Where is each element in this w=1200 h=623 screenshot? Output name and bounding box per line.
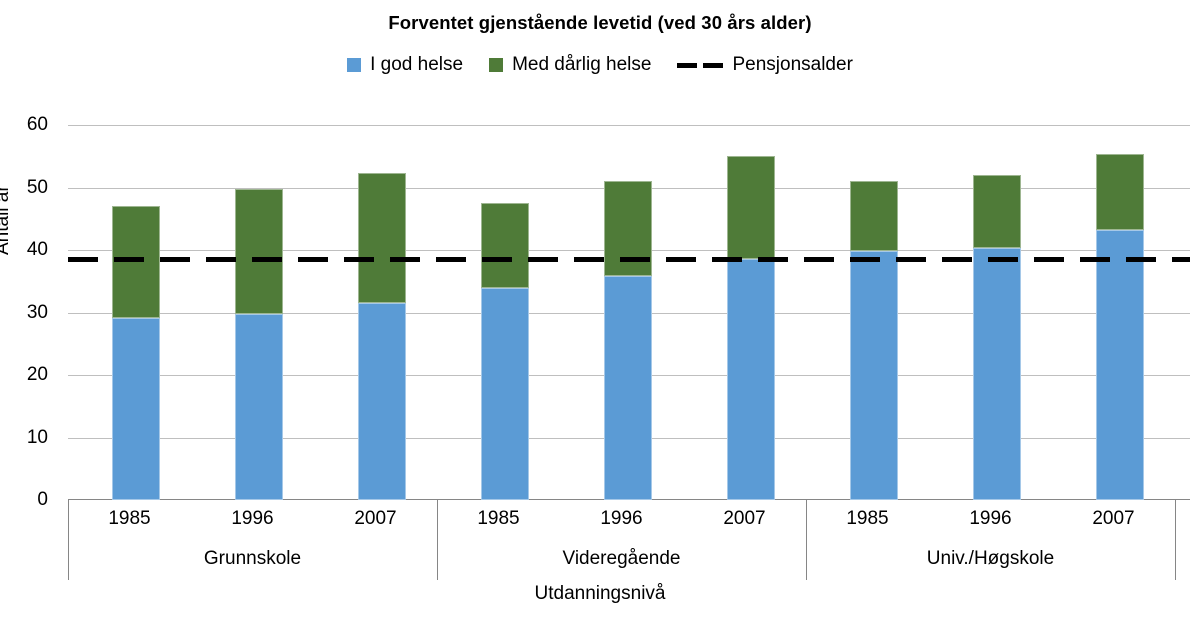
y-axis-tick-label: 60 (0, 114, 48, 136)
x-axis-group-label: Videregående (437, 548, 806, 570)
x-axis-tick-label: 1985 (68, 508, 191, 530)
category-group-separator (1175, 500, 1176, 580)
legend-label-pensjonsalder: Pensjonsalder (732, 54, 852, 76)
bar-segment-med-darlig-helse[interactable] (1096, 154, 1144, 230)
chart-legend: I god helse Med dårlig helse Pensjonsald… (0, 54, 1200, 76)
legend-item-pensjonsalder[interactable]: Pensjonsalder (677, 54, 852, 76)
pensjonsalder-threshold-line (68, 257, 1190, 262)
bar-segment-med-darlig-helse[interactable] (973, 175, 1021, 248)
x-axis-tick-label: 2007 (314, 508, 437, 530)
y-axis-tick-label: 50 (0, 177, 48, 199)
legend-swatch-blue-icon (347, 58, 361, 72)
gridline (68, 125, 1190, 126)
bar-segment-i-god-helse[interactable] (973, 248, 1021, 501)
bar-segment-i-god-helse[interactable] (481, 288, 529, 501)
bar-grunnskole-1996[interactable] (235, 189, 283, 500)
bar-segment-med-darlig-helse[interactable] (850, 181, 898, 250)
y-axis-tick-label: 20 (0, 364, 48, 386)
bar-segment-i-god-helse[interactable] (727, 259, 775, 500)
x-axis-tick-label: 2007 (683, 508, 806, 530)
bar-univ-h-gskole-1996[interactable] (973, 175, 1021, 500)
y-axis-tick-label: 10 (0, 427, 48, 449)
category-axis: 198519962007198519962007198519962007Grun… (68, 500, 1190, 580)
legend-item-i-god-helse[interactable]: I god helse (347, 54, 463, 76)
bar-segment-i-god-helse[interactable] (850, 251, 898, 500)
bar-videreg-ende-1996[interactable] (604, 181, 652, 500)
y-axis-tick-label: 40 (0, 239, 48, 261)
bar-segment-i-god-helse[interactable] (1096, 230, 1144, 500)
x-axis-tick-label: 2007 (1052, 508, 1175, 530)
bar-segment-med-darlig-helse[interactable] (481, 203, 529, 288)
legend-item-med-darlig-helse[interactable]: Med dårlig helse (489, 54, 651, 76)
page-title: Forventet gjenstående levetid (ved 30 år… (0, 12, 1200, 34)
x-axis-tick-label: 1985 (806, 508, 929, 530)
x-axis-tick-label: 1985 (437, 508, 560, 530)
bar-segment-med-darlig-helse[interactable] (235, 189, 283, 314)
legend-dashed-line-icon (677, 58, 723, 72)
bar-univ-h-gskole-1985[interactable] (850, 181, 898, 500)
x-axis-tick-label: 1996 (191, 508, 314, 530)
bar-grunnskole-2007[interactable] (358, 173, 406, 500)
legend-label-med-darlig-helse: Med dårlig helse (512, 54, 651, 76)
x-axis-title: Utdanningsnivå (0, 583, 1200, 605)
bar-segment-i-god-helse[interactable] (604, 276, 652, 500)
bar-videreg-ende-2007[interactable] (727, 156, 775, 500)
legend-swatch-green-icon (489, 58, 503, 72)
legend-label-i-god-helse: I god helse (370, 54, 463, 76)
x-axis-group-label: Univ./Høgskole (806, 548, 1175, 570)
x-axis-group-label: Grunnskole (68, 548, 437, 570)
bar-segment-i-god-helse[interactable] (235, 314, 283, 500)
bar-segment-i-god-helse[interactable] (112, 318, 160, 501)
x-axis-tick-label: 1996 (929, 508, 1052, 530)
plot-area: 0102030405060 (68, 125, 1190, 500)
y-axis-tick-label: 0 (0, 489, 48, 511)
bar-segment-i-god-helse[interactable] (358, 303, 406, 500)
y-axis-tick-label: 30 (0, 302, 48, 324)
bar-grunnskole-1985[interactable] (112, 206, 160, 500)
bar-segment-med-darlig-helse[interactable] (727, 156, 775, 259)
bar-segment-med-darlig-helse[interactable] (358, 173, 406, 303)
bar-videreg-ende-1985[interactable] (481, 203, 529, 501)
bar-univ-h-gskole-2007[interactable] (1096, 154, 1144, 500)
x-axis-tick-label: 1996 (560, 508, 683, 530)
